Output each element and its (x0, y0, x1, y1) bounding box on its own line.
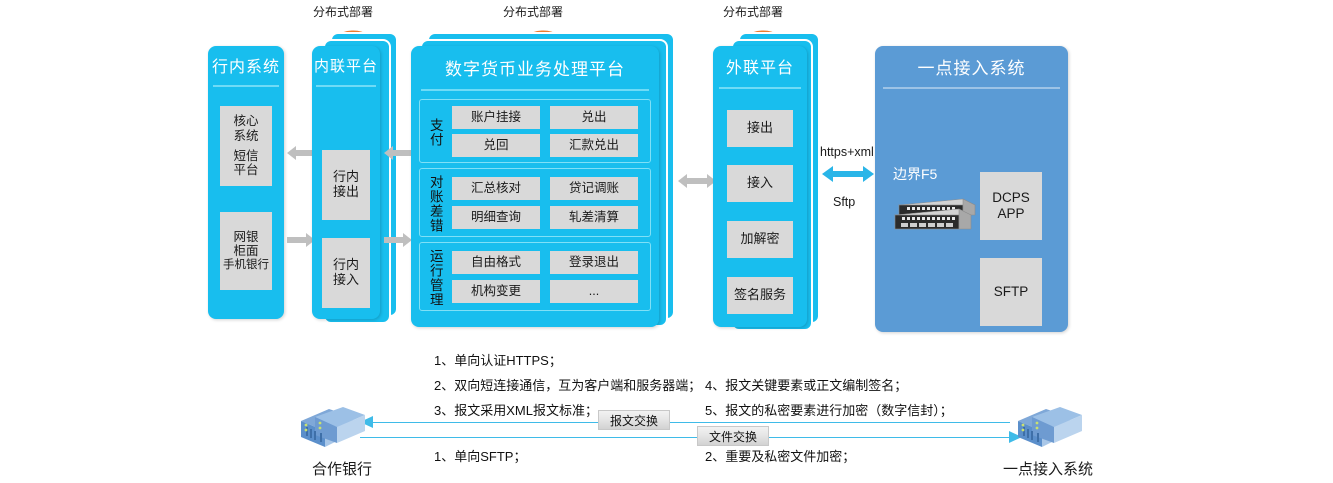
architecture-diagram: 分布式部署 分布式部署 分布式部署 行内系统 核心 系统 短信 平台 网银 (0, 0, 1333, 483)
box-signature-service: 签名服务 (727, 277, 793, 314)
panel-access-system-title: 一点接入系统 (875, 46, 1068, 86)
group-payment: 支付 账户挂接 兑出 兑回 汇款兑出 (419, 99, 651, 163)
note-https-5: 5、报文的私密要素进行加密（数字信封）； (705, 400, 953, 419)
arrow-internal-to-intranet-icon (287, 232, 315, 248)
box-credit-adjust: 贷记调账 (550, 177, 638, 200)
panel-dcep-platform: 数字货币业务处理平台 支付 账户挂接 兑出 兑回 汇款兑出 对账差错 汇总核对 … (411, 46, 659, 327)
panel-access-system: 一点接入系统 边界F5 (875, 46, 1068, 332)
box-remittance-out: 汇款兑出 (550, 134, 638, 157)
box-intranet-out: 行内 接出 (322, 150, 370, 220)
f5-label: 边界F5 (893, 164, 937, 184)
label-message-exchange: 报文交换 (598, 410, 670, 430)
arrow-intranet-to-dcep-icon (384, 232, 412, 248)
connector-sftp-label: Sftp (833, 195, 855, 209)
f5-appliance-icon (893, 193, 979, 235)
panel-external-platform: 外联平台 接出 接入 加解密 签名服务 (713, 46, 807, 327)
distributed-label-dcep: 分布式部署 (503, 3, 563, 20)
partner-bank-server-icon (295, 405, 367, 453)
group-operations: 运行管理 自由格式 登录退出 机构变更 ... (419, 242, 651, 311)
group-reconciliation-label: 对账差错 (424, 172, 446, 235)
group-operations-label: 运行管理 (424, 246, 446, 309)
box-org-change: 机构变更 (452, 280, 540, 303)
note-sftp-2: 2、重要及私密文件加密； (705, 446, 855, 465)
box-netting-settle: 轧差清算 (550, 206, 638, 229)
box-free-format: 自由格式 (452, 251, 540, 274)
note-https-2: 2、双向短连接通信，互为客户端和服务器端； (434, 375, 701, 394)
label-file-exchange: 文件交换 (697, 426, 769, 446)
box-encrypt-decrypt: 加解密 (727, 221, 793, 258)
box-login-logout: 登录退出 (550, 251, 638, 274)
access-system-server-icon (1012, 405, 1084, 453)
arrow-dcep-external-bidirectional-icon (678, 173, 716, 189)
box-external-out: 接出 (727, 110, 793, 147)
box-external-in: 接入 (727, 165, 793, 202)
endpoint-access-system-caption: 一点接入系统 (1003, 458, 1093, 479)
box-exchange-out: 兑出 (550, 106, 638, 129)
box-more: ... (550, 280, 638, 303)
box-core-system: 核心 系统 短信 平台 (220, 106, 272, 186)
distributed-label-external: 分布式部署 (723, 3, 783, 20)
panel-intranet-platform-title: 内联平台 (312, 46, 380, 84)
connector-bidirectional-arrow-icon (822, 165, 874, 183)
panel-intranet-platform: 内联平台 行内 接出 行内 接入 (312, 46, 380, 319)
note-https-3: 3、报文采用XML报文标准； (434, 400, 598, 419)
box-account-link: 账户挂接 (452, 106, 540, 129)
endpoint-partner-bank-caption: 合作银行 (312, 458, 372, 479)
box-exchange-back: 兑回 (452, 134, 540, 157)
connector-https-xml-label: https+xml (820, 145, 874, 159)
panel-dcep-platform-title: 数字货币业务处理平台 (411, 46, 659, 88)
note-https-4: 4、报文关键要素或正文编制签名； (705, 375, 907, 394)
arrow-intranet-to-internal-icon (287, 145, 315, 161)
box-intranet-in: 行内 接入 (322, 238, 370, 308)
box-detail-query: 明细查询 (452, 206, 540, 229)
panel-internal-system-title: 行内系统 (208, 46, 284, 84)
group-payment-label: 支付 (424, 104, 446, 160)
distributed-label-intranet: 分布式部署 (313, 3, 373, 20)
box-dcps-app: DCPS APP (980, 172, 1042, 240)
panel-external-platform-title: 外联平台 (713, 46, 807, 86)
group-reconciliation: 对账差错 汇总核对 贷记调账 明细查询 轧差清算 (419, 168, 651, 237)
note-https-1: 1、单向认证HTTPS； (434, 350, 562, 369)
box-ebank-counter-mobile: 网银 柜面 手机银行 (220, 212, 272, 290)
note-sftp-1: 1、单向SFTP； (434, 446, 526, 465)
box-summary-check: 汇总核对 (452, 177, 540, 200)
panel-internal-system: 行内系统 核心 系统 短信 平台 网银 柜面 手机银行 (208, 46, 284, 319)
box-sftp: SFTP (980, 258, 1042, 326)
arrow-dcep-to-intranet-icon (384, 145, 412, 161)
